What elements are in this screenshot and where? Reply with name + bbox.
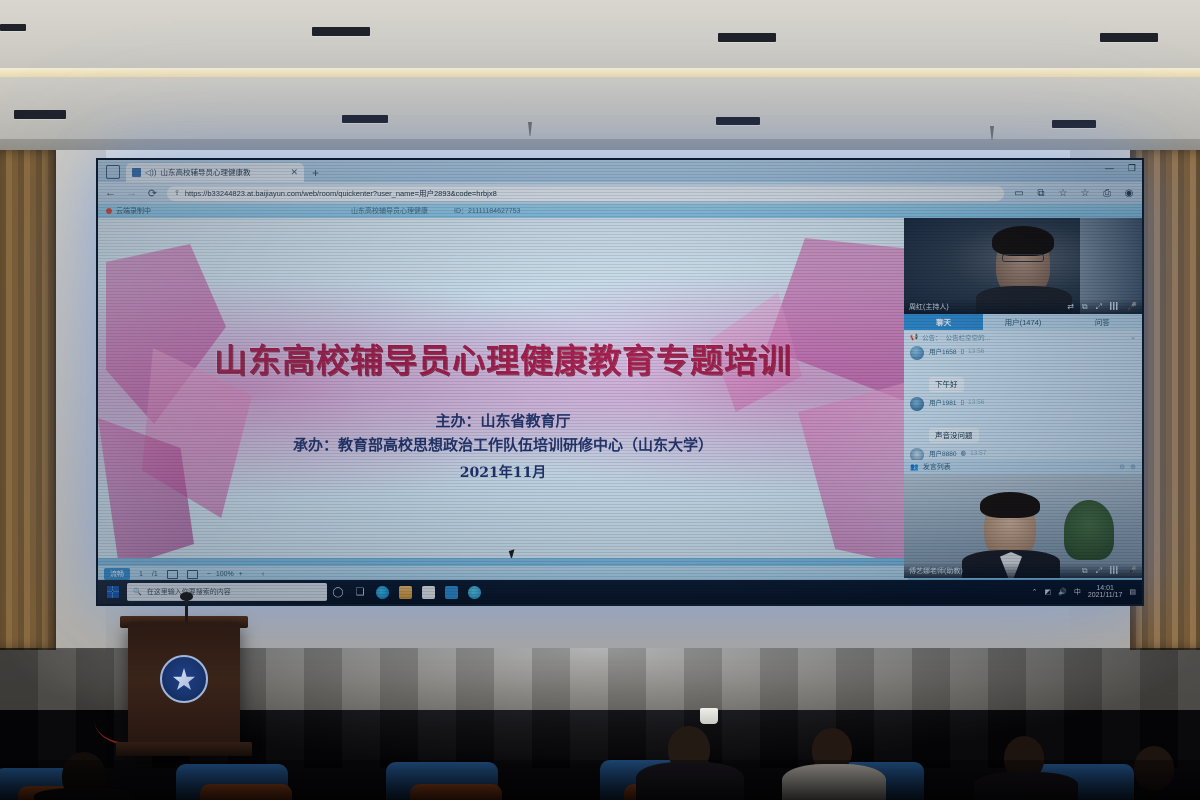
ceiling-vent — [0, 24, 26, 31]
glasses-icon — [1002, 254, 1044, 262]
minimize-button[interactable]: — — [1105, 163, 1114, 174]
new-tab-button[interactable]: + — [312, 166, 319, 180]
panel-tabs: 聊天 用户(1474) 问答 — [904, 314, 1142, 330]
slide-date: 2021年11月 — [98, 462, 908, 482]
browser-icon[interactable] — [468, 586, 481, 599]
chevron-up-icon[interactable]: ⌃ — [1032, 588, 1038, 596]
message-time: 13:56 — [968, 399, 984, 406]
message-device-icon: ◍ — [960, 449, 966, 457]
slide-title: 山东高校辅导员心理健康教育专题培训 — [98, 334, 908, 382]
message-text: 声音没问题 — [929, 428, 979, 443]
avatar — [910, 448, 924, 460]
downloads-icon[interactable]: ⎙ — [1100, 188, 1114, 199]
ceiling-mid — [0, 77, 1200, 139]
room-id: ID：21111184627753 — [454, 206, 520, 216]
browser-tab[interactable]: ◁)) 山东高校辅导员心理健康教 ✕ — [126, 163, 304, 182]
tab-audio-icon[interactable]: ◁)) — [145, 168, 156, 177]
ceiling-vent — [718, 33, 776, 42]
notifications-icon[interactable]: ▤ — [1129, 588, 1136, 596]
led-screen: ◁)) 山东高校辅导员心理健康教 ✕ + — ❐ ← → ⟳ ⇪ https:/… — [96, 158, 1144, 606]
clock-time: 14:01 — [1096, 585, 1114, 592]
recording-indicator-icon — [106, 208, 112, 214]
host-video-tile[interactable]: 周红(主持人) ⇄ ⧉ ⤢ 🎤 — [904, 218, 1142, 314]
ceiling-vent — [1052, 120, 1096, 128]
podium-base — [116, 742, 252, 756]
message-user: 用户1658 — [929, 346, 956, 356]
collections-icon[interactable]: ▭ — [1012, 188, 1026, 199]
wood-slat-wall-left — [0, 150, 56, 650]
ceiling-vent — [716, 117, 760, 125]
chat-message: 用户1981 ▯ 13:56 声音没问题 — [910, 397, 1136, 443]
mic-icon[interactable]: 🎤 — [1127, 302, 1137, 312]
ceiling-vent — [312, 27, 370, 36]
meeting-app: 云端录制中 山东高校辅导员心理健康 ID：21111184627753 山东高校… — [98, 204, 1142, 604]
fit-width-icon[interactable] — [167, 570, 178, 579]
chevron-down-icon[interactable]: ⌄ — [1130, 333, 1136, 341]
search-icon: 🔍 — [133, 588, 142, 596]
megaphone-icon: 📢 — [910, 333, 918, 341]
address-bar-url: https://b33244823.at.baijiayun.com/web/r… — [185, 188, 497, 199]
slide-co-organizer: 承办：教育部高校思想政治工作队伍培训研修中心（山东大学） — [98, 434, 908, 455]
clock-date: 2021/11/17 — [1088, 592, 1123, 599]
mail-icon[interactable] — [422, 586, 435, 599]
taskbar-clock[interactable]: 14:01 2021/11/17 — [1088, 585, 1123, 600]
trash-bin — [700, 708, 718, 724]
site-info-icon[interactable]: ⇪ — [174, 189, 180, 197]
tab-users[interactable]: 用户(1474) — [983, 314, 1062, 330]
favorite-add-icon[interactable]: ☆ — [1056, 188, 1070, 199]
right-panel: 周红(主持人) ⇄ ⧉ ⤢ 🎤 聊天 用户(1474) 问答 — [904, 218, 1142, 558]
chat-message: 用户8880 ◍ 13:57 老师，下午好 — [910, 448, 1136, 460]
announcement-bar[interactable]: 📢 公告： 公告栏空空的... ⌄ — [904, 330, 1142, 344]
office-icon[interactable] — [445, 586, 458, 599]
network-icon[interactable]: ◩ — [1045, 588, 1052, 596]
fit-page-icon[interactable] — [187, 570, 198, 579]
signal-icon — [1110, 566, 1119, 574]
zoom-out-button[interactable]: − — [207, 571, 211, 578]
mic-icon[interactable]: 🎤 — [1127, 566, 1137, 576]
address-bar[interactable]: ⇪ https://b33244823.at.baijiayun.com/web… — [167, 186, 1004, 201]
expand-panel-icon[interactable]: ⊕ — [1130, 463, 1136, 471]
auditorium-scene: ◁)) 山东高校辅导员心理健康教 ✕ + — ❐ ← → ⟳ ⇪ https:/… — [0, 0, 1200, 800]
presentation-slide: 山东高校辅导员心理健康教育专题培训 主办：山东省教育厅 承办：教育部高校思想政治… — [98, 218, 908, 558]
avatar — [910, 346, 924, 360]
minimize-panel-icon[interactable]: ⊖ — [1119, 463, 1125, 471]
microphone-icon — [180, 592, 193, 601]
speaker-name-bar: 傅艺娜老师(助教) ⧉ ⤢ 🎤 — [904, 563, 1142, 578]
chat-message-list[interactable]: 用户1658 ▯ 13:56 下午好 用户1981 ▯ — [904, 344, 1142, 460]
host-hair — [992, 226, 1054, 256]
foreground-shadow — [0, 760, 1200, 800]
favorites-icon[interactable]: ☆ — [1078, 188, 1092, 199]
ceiling-vent — [14, 110, 66, 119]
message-user: 用户1981 — [929, 397, 956, 407]
profile-icon[interactable]: ◉ — [1122, 188, 1136, 199]
mouse-cursor-icon — [509, 549, 517, 558]
cortana-icon[interactable]: ◯ — [327, 587, 349, 598]
chat-message: 用户1658 ▯ 13:56 下午好 — [910, 346, 1136, 392]
message-text: 下午好 — [929, 377, 964, 392]
task-view-icon[interactable]: ❏ — [349, 587, 371, 598]
page-current: 1 — [139, 571, 143, 578]
browser-title-bar: ◁)) 山东高校辅导员心理健康教 ✕ + — ❐ — [98, 160, 1142, 182]
browser-nav-bar: ← → ⟳ ⇪ https://b33244823.at.baijiayun.c… — [98, 182, 1142, 204]
file-explorer-icon[interactable] — [399, 586, 412, 599]
system-tray: ⌃ ◩ 🔊 中 14:01 2021/11/17 ▤ — [1032, 585, 1136, 600]
signal-icon — [1110, 302, 1119, 310]
ceiling-vent — [342, 115, 388, 123]
maximize-button[interactable]: ❐ — [1128, 163, 1136, 174]
expand-icon[interactable]: ⤢ — [1096, 566, 1102, 576]
people-icon: 👥 — [910, 463, 919, 471]
slide-organizer: 主办：山东省教育厅 — [98, 410, 908, 431]
quality-button[interactable]: 流畅 — [104, 568, 130, 580]
swap-icon[interactable]: ⇄ — [1067, 302, 1074, 312]
popout-icon[interactable]: ⧉ — [1082, 566, 1088, 576]
speaker-name: 傅艺娜老师(助教) — [909, 566, 963, 576]
browser-tab-title: 山东高校辅导员心理健康教 — [160, 167, 250, 178]
announcement-text: 公告栏空空的... — [946, 332, 990, 342]
message-device-icon: ▯ — [960, 347, 964, 355]
back-icon[interactable]: ← — [104, 187, 117, 199]
tab-qa[interactable]: 问答 — [1063, 314, 1142, 330]
microphone-stand — [185, 598, 188, 622]
ceiling-upper — [0, 0, 1200, 72]
message-time: 13:57 — [970, 450, 986, 457]
forward-icon[interactable]: → — [125, 187, 138, 199]
favicon-icon — [132, 168, 141, 177]
ceiling-cove-light — [0, 68, 1200, 77]
recording-label: 云端录制中 — [116, 206, 151, 216]
page-total: /1 — [152, 571, 158, 578]
speaker-video-tile[interactable]: 傅艺娜老师(助教) ⧉ ⤢ 🎤 — [904, 474, 1142, 578]
slide-viewer[interactable]: 山东高校辅导员心理健康教育专题培训 主办：山东省教育厅 承办：教育部高校思想政治… — [98, 218, 908, 558]
speaker-list-header: 👥 发言列表 ⊖ ⊕ — [904, 460, 1142, 474]
speaker-hair — [980, 492, 1040, 518]
message-device-icon: ▯ — [960, 398, 964, 406]
tab-search-icon[interactable] — [106, 165, 120, 179]
university-emblem — [160, 655, 208, 703]
ime-icon[interactable]: 中 — [1074, 587, 1081, 597]
split-screen-icon[interactable]: ⧉ — [1034, 188, 1048, 199]
collapse-panel-button[interactable]: ‹ — [262, 571, 264, 578]
plant-decor — [1064, 500, 1114, 560]
avatar — [910, 397, 924, 411]
host-name-bar: 周红(主持人) ⇄ ⧉ ⤢ 🎤 — [904, 299, 1142, 314]
ceiling-vent — [1100, 33, 1158, 42]
message-time: 13:56 — [968, 348, 984, 355]
zoom-level: 100% — [216, 571, 234, 578]
zoom-in-button[interactable]: + — [239, 571, 243, 578]
edge-icon[interactable] — [376, 586, 389, 599]
reload-icon[interactable]: ⟳ — [146, 187, 159, 200]
tab-chat[interactable]: 聊天 — [904, 314, 983, 330]
tab-close-icon[interactable]: ✕ — [290, 167, 298, 178]
app-header: 云端录制中 山东高校辅导员心理健康 ID：21111184627753 — [98, 204, 1142, 218]
announcement-label: 公告： — [922, 332, 942, 342]
volume-icon[interactable]: 🔊 — [1058, 588, 1067, 596]
room-title: 山东高校辅导员心理健康 — [351, 206, 428, 216]
windows-taskbar: 🔍 在这里输入你要搜索的内容 ◯ ❏ ⌃ ◩ 🔊 中 14:01 2021/11… — [98, 580, 1142, 604]
taskbar-search-input[interactable]: 🔍 在这里输入你要搜索的内容 — [127, 583, 327, 601]
speaker-list-label: 发言列表 — [923, 462, 951, 472]
windows-start-icon[interactable] — [107, 586, 119, 598]
host-name: 周红(主持人) — [909, 302, 949, 312]
popout-icon[interactable]: ⧉ — [1082, 302, 1088, 312]
message-user: 用户8880 — [929, 448, 956, 458]
expand-icon[interactable]: ⤢ — [1096, 302, 1102, 312]
window-controls: — ❐ — [1105, 163, 1136, 174]
